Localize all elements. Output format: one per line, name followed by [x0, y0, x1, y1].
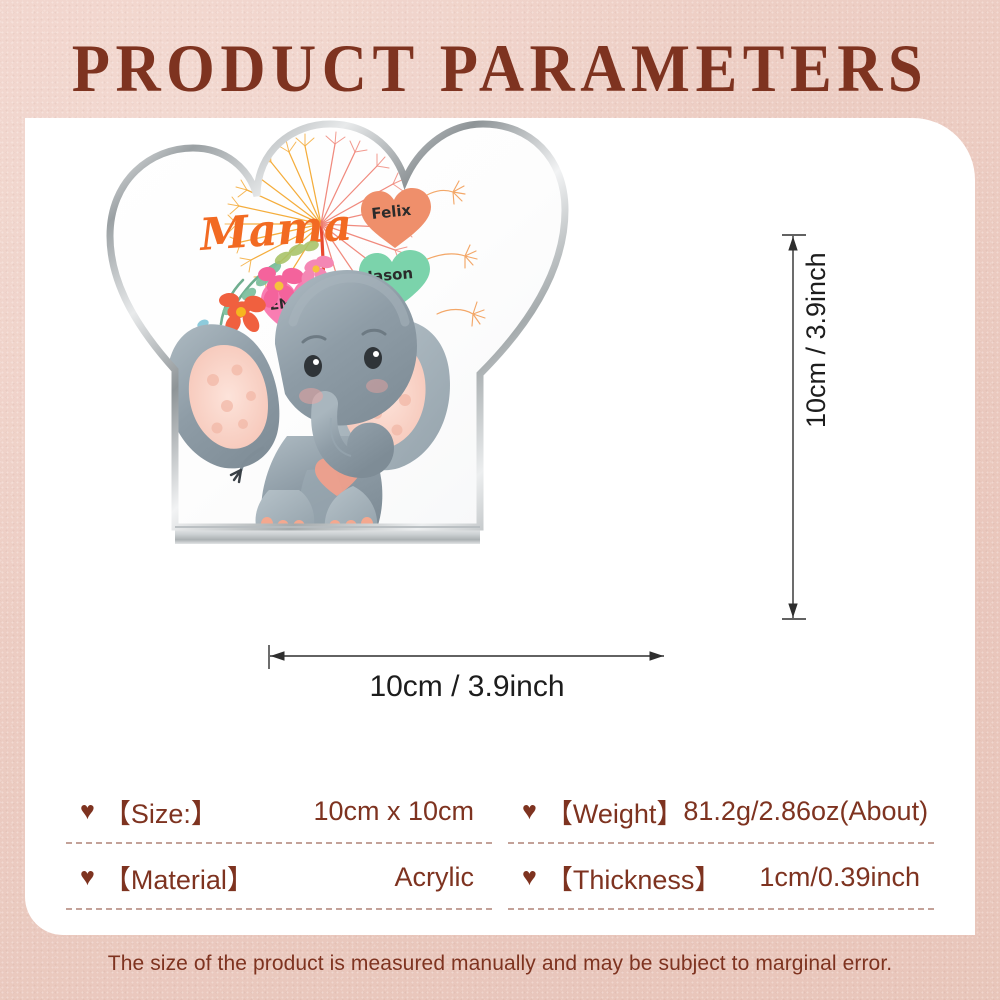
content-card: Mama Felix Jason EMMa	[25, 118, 975, 935]
page-title: PRODUCT PARAMETERS	[40, 32, 960, 104]
spec-label-thickness: 【Thickness】	[546, 858, 722, 897]
product-photo: Mama Felix Jason EMMa	[25, 118, 975, 718]
spec-row-thickness: ♥ 【Thickness】 1cm/0.39inch	[500, 844, 942, 910]
heart-icon: ♥	[80, 865, 95, 890]
spec-value-size: 10cm x 10cm	[313, 796, 478, 827]
spec-label-size: 【Size:】	[104, 792, 218, 831]
mama-text: Mama	[196, 199, 353, 261]
spec-row-material: ♥ 【Material】 Acrylic	[58, 844, 500, 910]
eye-left	[304, 355, 322, 377]
heart-icon: ♥	[522, 799, 537, 824]
heart-icon: ♥	[522, 865, 537, 890]
infographic-page: PRODUCT PARAMETERS	[0, 0, 1000, 1000]
spec-label-weight: 【Weight】	[546, 792, 684, 831]
eye-right	[364, 347, 382, 369]
spec-value-thickness: 1cm/0.39inch	[759, 862, 920, 893]
horizontal-dimension-label: 10cm / 3.9inch	[369, 670, 564, 703]
acrylic-heart-block: Mama Felix Jason EMMa	[110, 124, 565, 544]
spec-value-material: Acrylic	[395, 862, 479, 893]
vertical-dimension-label: 10cm / 3.9inch	[801, 252, 831, 428]
spec-value-weight: 81.2g/2.86oz(About)	[683, 796, 928, 827]
product-illustration: Mama Felix Jason EMMa	[25, 118, 975, 718]
heart-icon: ♥	[80, 799, 95, 824]
footer-disclaimer: The size of the product is measured manu…	[0, 952, 1000, 976]
spec-label-material: 【Material】	[104, 858, 254, 897]
spec-row-size: ♥ 【Size:】 10cm x 10cm	[58, 778, 500, 844]
spec-row-weight: ♥ 【Weight】 81.2g/2.86oz(About)	[500, 778, 942, 844]
spec-table: ♥ 【Size:】 10cm x 10cm ♥ 【Weight】 81.2g/2…	[58, 778, 942, 910]
